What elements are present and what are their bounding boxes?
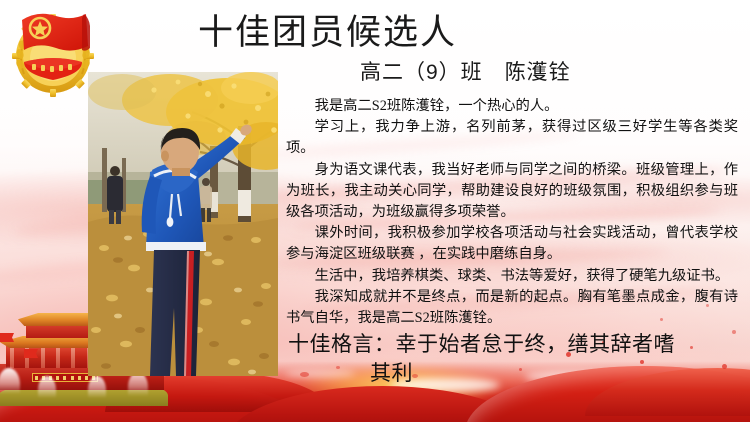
motto-label: 十佳格言： xyxy=(288,333,396,356)
red-flag-icon xyxy=(24,349,38,358)
fountain xyxy=(88,376,106,398)
statement-paragraph: 生活中，我培养棋类、球类、书法等爱好，获得了硬笔九级证书。 xyxy=(286,266,738,287)
candidate-subtitle: 高二（9）班陈濩铨 xyxy=(360,58,571,88)
candidate-name: 陈濩铨 xyxy=(505,61,571,84)
fountain xyxy=(38,376,56,398)
statement-paragraph: 课外时间，我积极参加学校各项活动与社会实践活动，曾代表学校参与海淀区班级联赛 ，… xyxy=(286,223,738,265)
motto-line-1: 幸于始者怠于终，缮其辞者嗜 xyxy=(396,333,676,356)
page-title: 十佳团员候选人 xyxy=(198,11,498,55)
statement-paragraph: 我是高二S2班陈濩铨，一个热心的人。 xyxy=(286,96,738,117)
statement-paragraph: 身为语文课代表，我当好老师与同学之间的桥梁。班级管理上，作为班长，我主动关心同学… xyxy=(286,160,738,224)
red-flag-icon xyxy=(0,333,14,342)
candidate-photo xyxy=(88,72,278,376)
motto-block: 十佳格言：幸于始者怠于终，缮其辞者嗜其利 xyxy=(288,330,738,388)
statement-paragraph: 学习上，我力争上游，名列前茅，获得过区级三好学生等各类奖项。 xyxy=(286,117,738,159)
motto-line-2: 其利 xyxy=(370,362,413,385)
statement-paragraph: 我深知成就并不是终点，而是新的起点。胸有笔墨点成金，腹有诗书气自华，我是高二S2… xyxy=(286,287,738,329)
candidate-statement: 我是高二S2班陈濩铨，一个热心的人。 学习上，我力争上游，名列前茅，获得过区级三… xyxy=(286,96,738,329)
candidate-class: 高二（9）班 xyxy=(360,61,483,84)
slide-root: 十佳团员候选人 高二（9）班陈濩铨 我是高二S2班陈濩铨，一个热心的人。 学习上… xyxy=(0,0,750,422)
